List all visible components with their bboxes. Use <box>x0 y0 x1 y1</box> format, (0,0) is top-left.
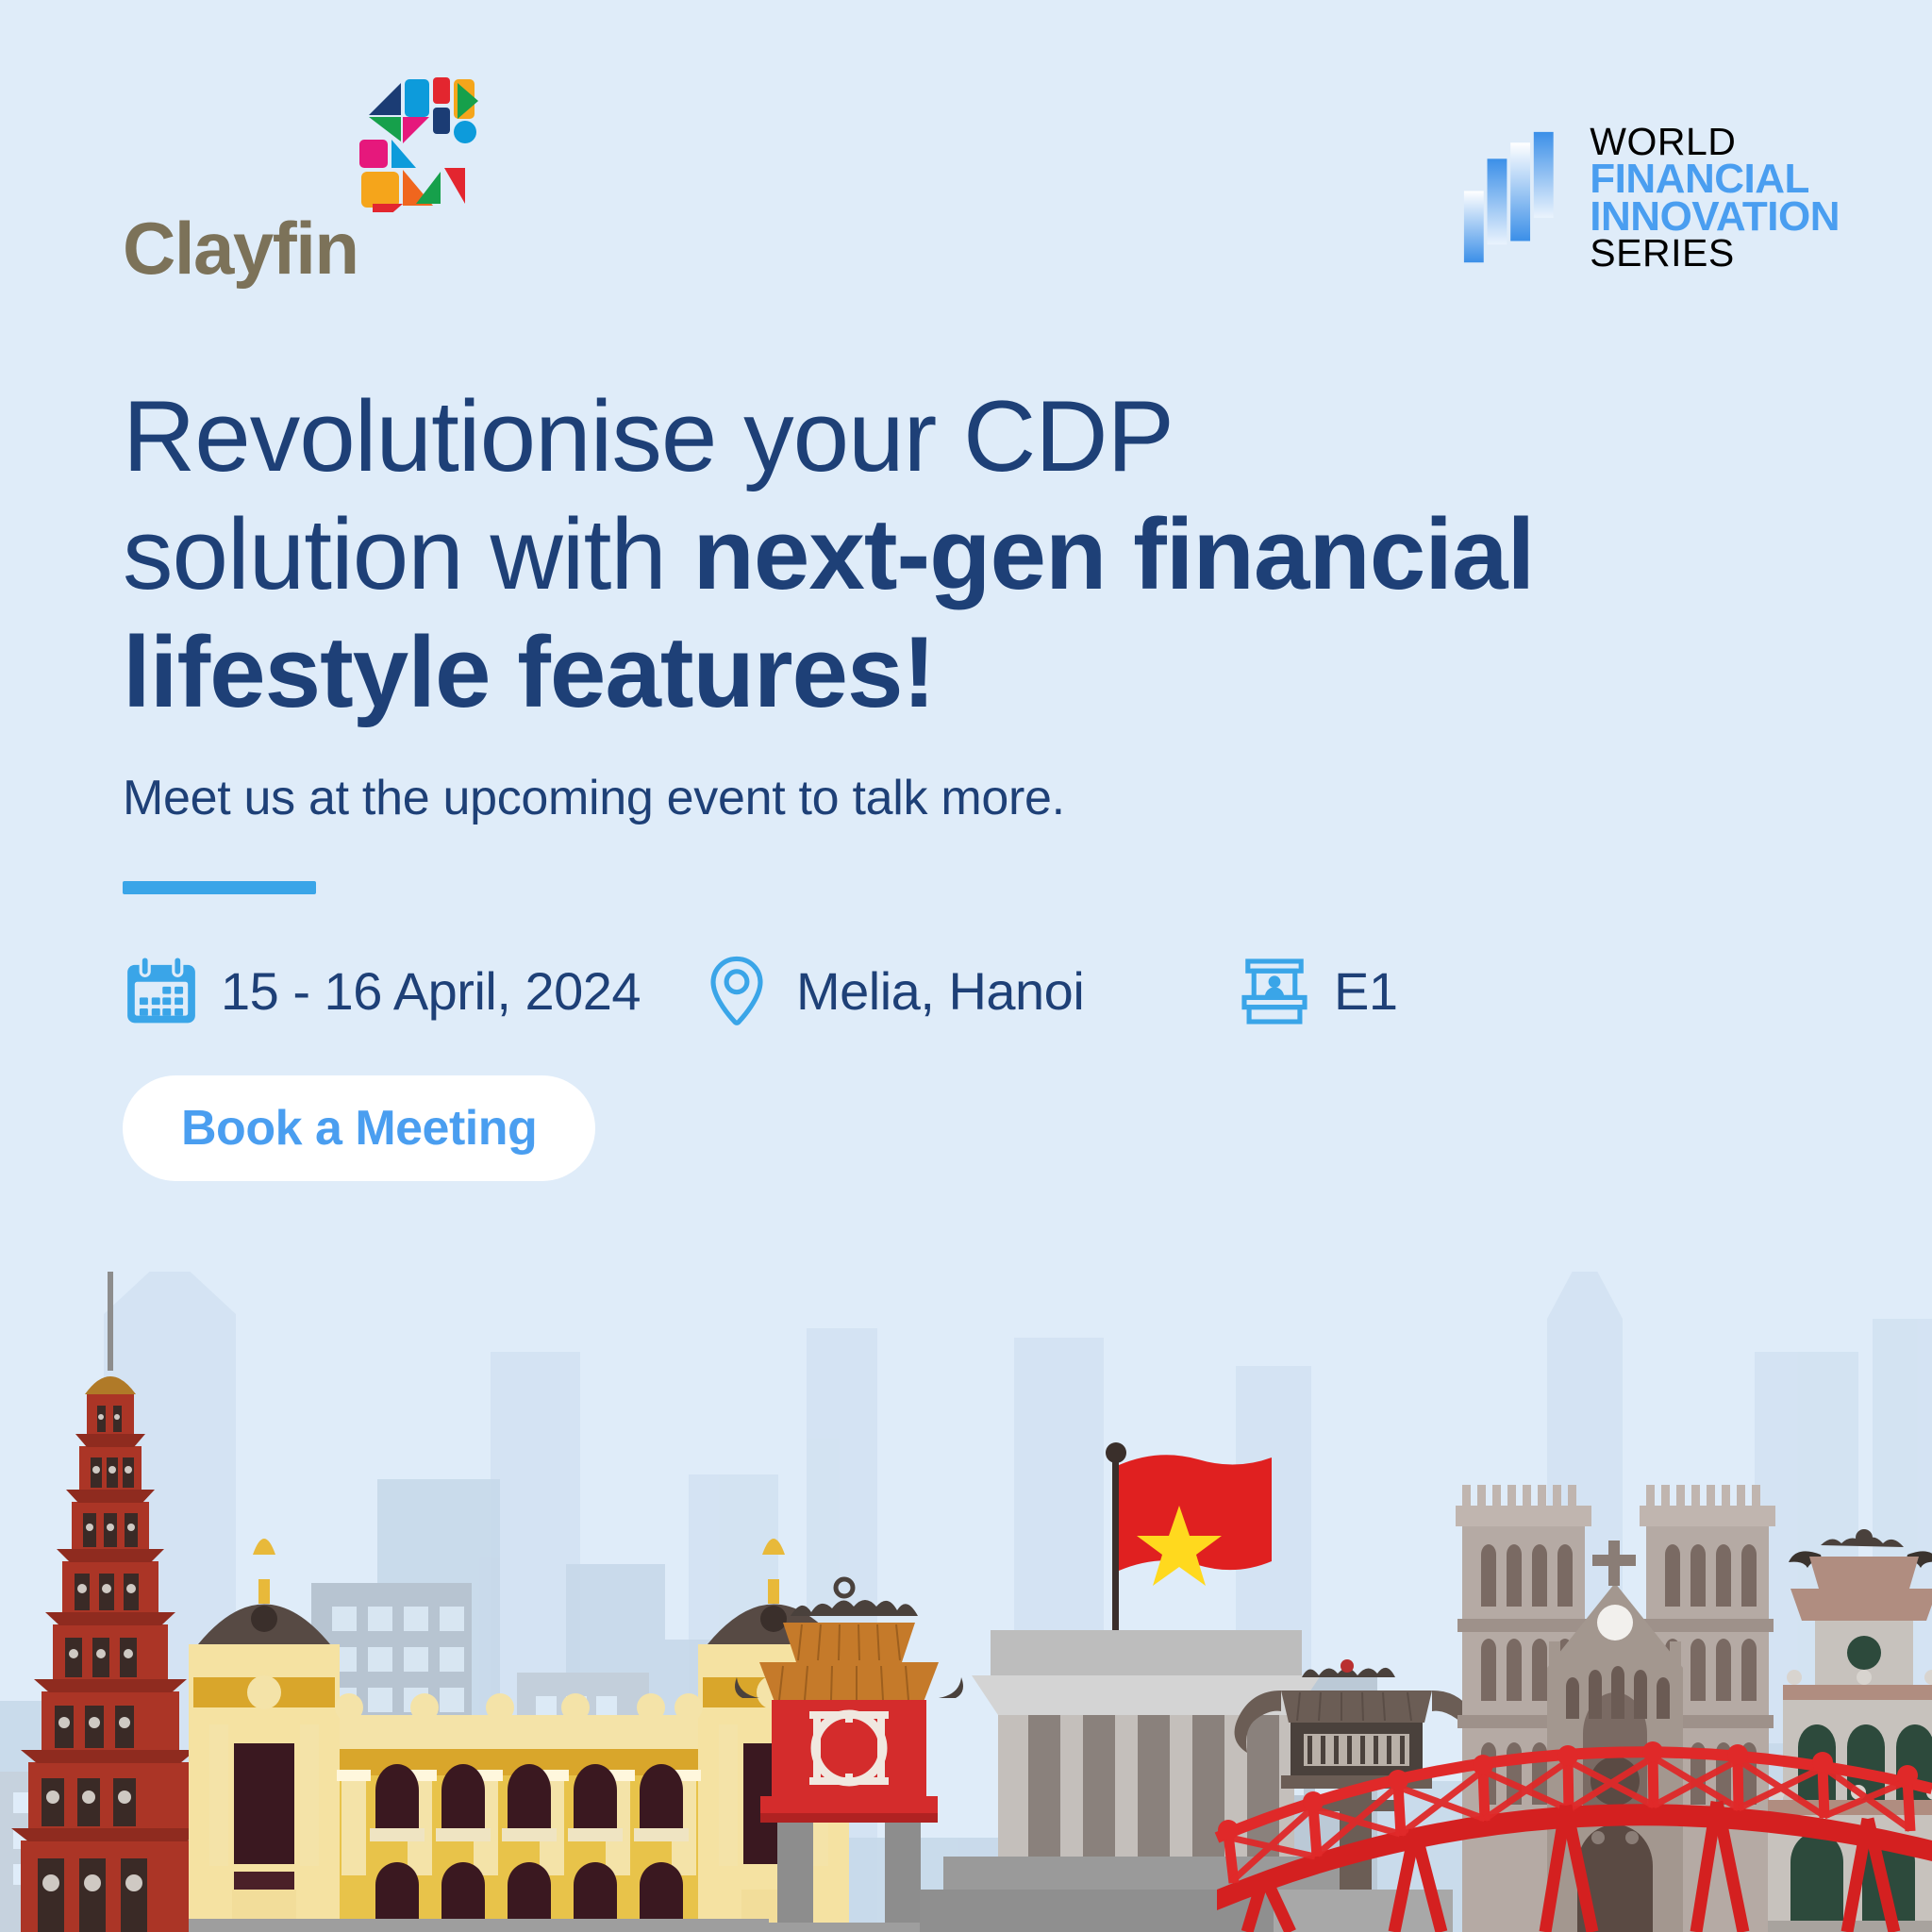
clayfin-mosaic-c-icon <box>354 66 486 212</box>
clayfin-logo[interactable]: Clayfin <box>123 66 500 264</box>
book-a-meeting-button[interactable]: Book a Meeting <box>123 1075 595 1181</box>
event-detail-venue: Melia, Hanoi <box>698 953 1236 1030</box>
banner-header: Clayfin WORLD FINANCIAL <box>0 0 1932 283</box>
wfis-line-financial: FINANCIAL <box>1590 160 1840 198</box>
page-title: Revolutionise your CDP solution with nex… <box>123 377 1538 732</box>
wfis-line-world: WORLD <box>1590 125 1840 160</box>
world-financial-innovation-series-logo[interactable]: WORLD FINANCIAL INNOVATION SERIES <box>1462 127 1840 269</box>
bar-chart-icon <box>1462 128 1576 268</box>
wfis-line-innovation: INNOVATION <box>1590 198 1840 236</box>
event-detail-date: 15 - 16 April, 2024 <box>123 953 698 1030</box>
exhibition-booth-icon <box>1236 953 1313 1030</box>
hanoi-skyline-illustration <box>0 1272 1932 1932</box>
banner-content: Revolutionise your CDP solution with nex… <box>123 377 1538 1181</box>
clayfin-wordmark: Clayfin <box>123 206 358 291</box>
event-date-label: 15 - 16 April, 2024 <box>221 960 641 1022</box>
event-details: 15 - 16 April, 2024 Melia, Hanoi <box>123 953 1538 1030</box>
event-venue-label: Melia, Hanoi <box>796 960 1084 1022</box>
location-pin-icon <box>698 953 775 1030</box>
accent-divider <box>123 881 316 894</box>
subtitle: Meet us at the upcoming event to talk mo… <box>123 770 1538 826</box>
event-detail-booth: E1 <box>1236 953 1398 1030</box>
calendar-icon <box>123 953 200 1030</box>
event-booth-label: E1 <box>1334 960 1398 1022</box>
wfis-line-series: SERIES <box>1590 236 1840 272</box>
